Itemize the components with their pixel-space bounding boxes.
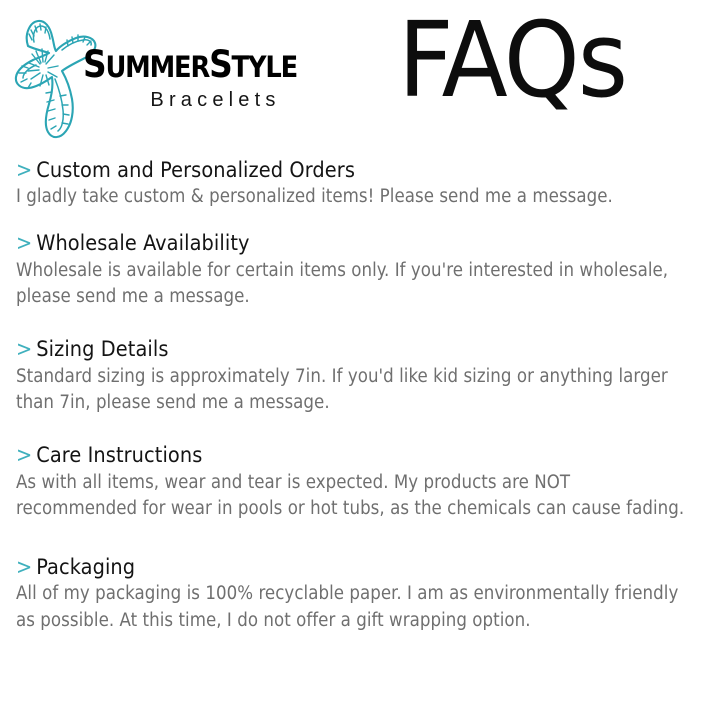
faq-item-care-instructions: >Care Instructions As with all items, we… xyxy=(16,443,700,523)
faq-heading-label: Care Instructions xyxy=(36,443,202,468)
brand-wordmark: SUMMERSTYLE xyxy=(83,40,305,88)
page-title: FAQs xyxy=(398,8,630,120)
faq-item-sizing-details: >Sizing Details Standard sizing is appro… xyxy=(16,337,700,417)
brand-logo: SUMMERSTYLE Bracelets xyxy=(8,6,308,146)
brand-tagline: Bracelets xyxy=(128,90,303,110)
faq-heading: >Custom and Personalized Orders xyxy=(16,158,700,183)
faq-heading: >Care Instructions xyxy=(16,443,700,468)
page-header: SUMMERSTYLE Bracelets FAQs xyxy=(0,0,720,150)
faq-answer: All of my packaging is 100% recyclable p… xyxy=(16,581,696,635)
faq-heading-label: Wholesale Availability xyxy=(36,231,249,256)
chevron-right-icon: > xyxy=(16,158,32,183)
faq-heading: >Sizing Details xyxy=(16,337,700,362)
faq-heading-label: Sizing Details xyxy=(36,337,168,362)
faq-answer: Standard sizing is approximately 7in. If… xyxy=(16,364,696,418)
faq-heading: >Packaging xyxy=(16,555,700,580)
svg-text:SUMMERSTYLE: SUMMERSTYLE xyxy=(83,43,297,86)
faq-item-wholesale-availability: >Wholesale Availability Wholesale is ava… xyxy=(16,231,700,311)
faq-answer: Wholesale is available for certain items… xyxy=(16,258,696,312)
chevron-right-icon: > xyxy=(16,231,32,256)
faq-heading: >Wholesale Availability xyxy=(16,231,700,256)
faq-item-packaging: >Packaging All of my packaging is 100% r… xyxy=(16,555,700,635)
faq-page: SUMMERSTYLE Bracelets FAQs >Custom and P… xyxy=(0,0,720,720)
svg-text:FAQs: FAQs xyxy=(398,8,626,120)
faq-item-custom-and-personalized-orders: >Custom and Personalized Orders I gladly… xyxy=(16,158,700,211)
faq-answer: As with all items, wear and tear is expe… xyxy=(16,470,696,524)
faq-heading-label: Custom and Personalized Orders xyxy=(36,158,355,183)
faq-answer: I gladly take custom & personalized item… xyxy=(16,184,696,211)
chevron-right-icon: > xyxy=(16,337,32,362)
faq-list: >Custom and Personalized Orders I gladly… xyxy=(16,158,700,635)
chevron-right-icon: > xyxy=(16,443,32,468)
chevron-right-icon: > xyxy=(16,555,32,580)
faq-heading-label: Packaging xyxy=(36,555,135,580)
